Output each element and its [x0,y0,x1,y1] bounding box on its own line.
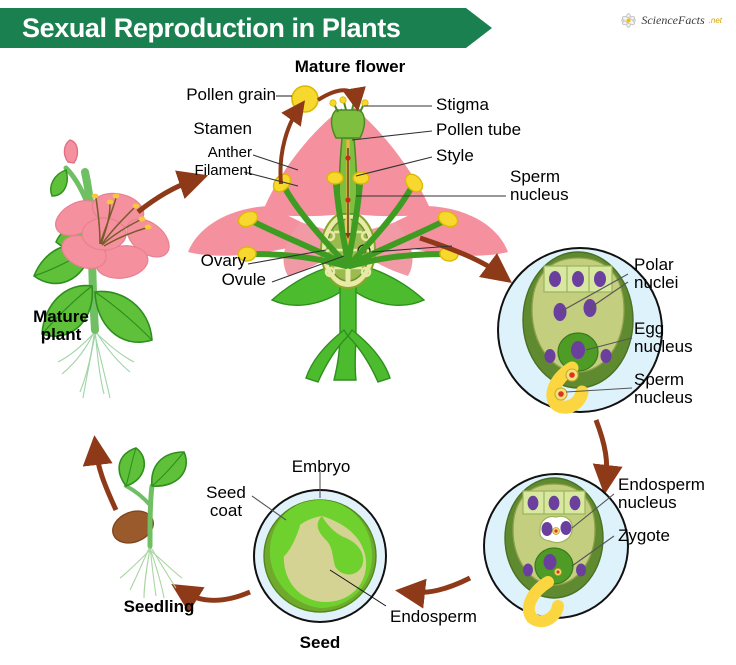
seed-coat [254,490,386,622]
egg-cell [558,333,598,371]
zygote-nucleus [544,554,557,570]
integument [523,252,633,388]
label-endosperm-nucleus: Endosperm nucleus [618,476,705,511]
leader-lines [560,274,632,392]
leaf [51,170,67,196]
seedling-leaves [119,448,186,486]
label-endosperm: Endosperm [390,608,477,626]
sperm-nucleus-lower [345,197,350,202]
label-style: Style [436,147,474,165]
label-pollen-tube: Pollen tube [436,121,521,139]
polar-nuclei [554,299,597,321]
leader-lines-2 [572,494,614,566]
label-zygote: Zygote [618,527,670,545]
page-title: Sexual Reproduction in Plants [22,13,400,44]
label-seed: Seed [280,634,360,652]
ovary [321,212,375,288]
petal [284,222,348,276]
diagram-canvas: Sexual Reproduction in Plants ScienceFac… [0,0,736,665]
endosperm-nucleus [540,516,572,542]
antipodal-nuclei-2 [528,496,581,510]
sperm-nucleus-upper [345,155,350,160]
label-stamen: Stamen [116,120,252,138]
arrow-ovule-to-zygote [596,420,607,480]
label-mature-flower: Mature flower [270,58,430,76]
target-ovule-nucleus [361,248,366,253]
antipodal-cells-2 [523,491,585,514]
label-ovule: Ovule [140,271,266,289]
antipodal-nuclei [549,271,606,287]
target-ovule [358,245,370,257]
stamens-group [236,171,460,266]
seedling-stem [150,486,152,546]
endosperm-leader-line [330,570,386,606]
arrow-flower-to-ovule [420,238,500,274]
label-anther: Anther [116,145,252,161]
anthers [236,171,460,262]
arrow-zygote-to-seed [410,578,470,592]
plant-branch-2 [66,168,86,200]
receptacle-sepals [272,262,424,382]
stigma [330,97,368,138]
seedling-seed [108,505,158,549]
leaf [56,229,90,249]
petal [344,106,432,216]
endosperm [284,516,366,602]
seed-inner-layer [264,500,376,612]
antipodal-cells [544,266,612,292]
embryo-cotyledon [282,520,300,558]
ovule-outer-wall-2 [484,474,628,618]
ovule-zygote-illustration [484,474,628,621]
petal [188,206,330,256]
plant-flower-anthers [92,194,152,230]
arrow-anther-to-pollen [280,110,298,184]
label-ovary: Ovary [120,252,246,270]
embryo-sac [532,258,624,372]
filaments [254,184,442,266]
label-stigma: Stigma [436,96,489,114]
synergid-nuclei [545,349,612,363]
seedling-illustration [108,448,186,598]
logo-suffix: .net [709,16,722,25]
style [339,138,357,214]
label-seed-coat: Seed coat [186,484,266,519]
egg-nucleus [571,341,585,359]
leaf [34,244,92,283]
pollen-tube-2 [529,582,558,621]
plant-branch [92,206,112,250]
label-filament: Filament [104,163,252,179]
label-egg-nucleus: Egg nucleus [634,320,693,355]
pollen-grain [292,86,318,112]
petal [262,108,356,216]
petal [348,222,412,276]
arrow-seedling-to-plant [96,450,116,510]
zygote [535,548,573,584]
embryo [270,500,372,608]
petal [366,206,508,256]
label-seedling: Seedling [104,598,214,616]
label-polar-nuclei: Polar nuclei [634,256,678,291]
label-embryo: Embryo [256,458,386,476]
arrow-plant-to-flower [138,180,194,212]
label-mature-plant: Mature plant [6,308,116,343]
label-sperm-nucleus-ovule: Sperm nucleus [634,371,693,406]
ovary-locule [327,219,369,281]
synergid-nuclei-2 [523,564,586,577]
embryo-sac-2 [513,484,595,585]
arrow-pollen-to-stigma [318,90,356,100]
seed-illustration [252,472,386,622]
logo-name: ScienceFacts [641,13,704,28]
flower-bud [64,140,77,163]
site-logo[interactable]: ScienceFacts .net [620,12,722,29]
integument-2 [505,478,603,598]
plant-flower-stamens [96,198,146,246]
seedling-roots [120,546,182,598]
flower-atom-icon [620,12,637,29]
ovules-group [326,232,370,276]
seedling-petiole [126,486,151,506]
label-pollen-grain: Pollen grain [106,86,276,104]
sperm-nuclei-in-tube [555,369,578,400]
label-sperm-nucleus-flower: Sperm nucleus [510,168,569,203]
pollen-tube-entering [553,368,582,407]
